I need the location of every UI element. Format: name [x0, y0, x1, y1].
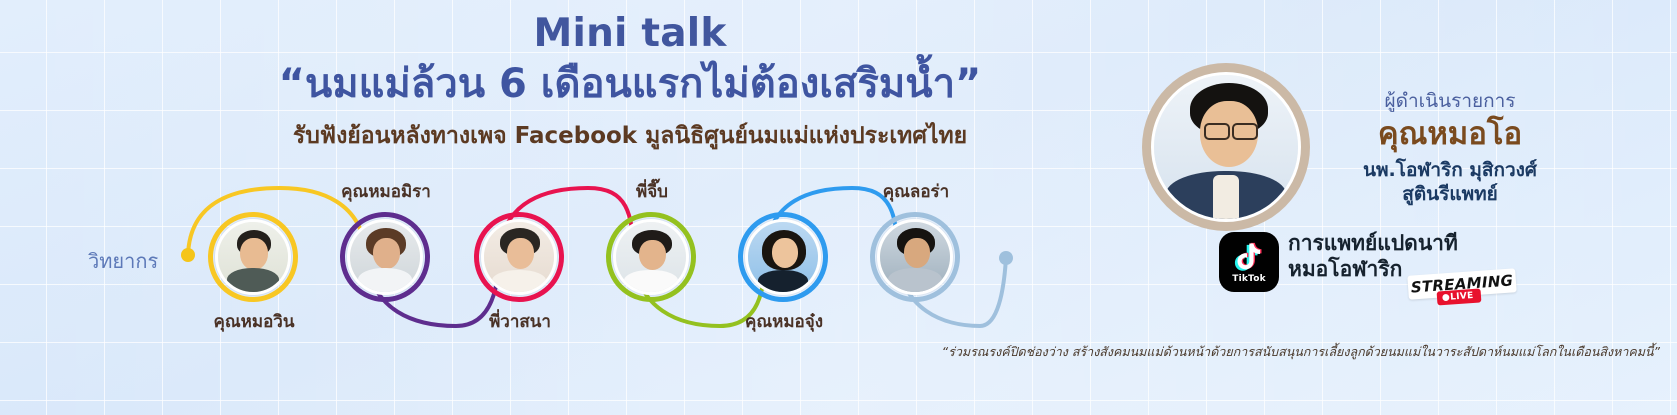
host-avatar[interactable]: [1142, 63, 1310, 231]
tiktok-note-glyph: [1232, 241, 1266, 273]
speaker-name-6: คุณลอร่า: [848, 178, 984, 205]
host-full-name: นพ.โอฬาริก มุสิกวงศ์: [1300, 158, 1600, 183]
host-nickname: คุณหมอโอ: [1300, 115, 1600, 154]
footer-tagline: “ร่วมรณรงค์ปิดช่องว่าง สร้างสังคมนมแม่ด้…: [840, 342, 1660, 362]
speaker-name-5: คุณหมอจุ๋ง: [716, 308, 852, 335]
talk-topic-quote: “นมแม่ล้วน 6 เดือนแรกไม่ต้องเสริมน้ำ”: [180, 59, 1080, 109]
headline-block: Mini talk “นมแม่ล้วน 6 เดือนแรกไม่ต้องเส…: [180, 14, 1080, 151]
speaker-avatar-6[interactable]: คุณลอร่า: [870, 212, 960, 302]
host-info: ผู้ดำเนินรายการ คุณหมอโอ นพ.โอฬาริก มุสิ…: [1300, 90, 1600, 207]
speaker-photo-1: [218, 222, 288, 292]
speaker-avatar-1[interactable]: คุณหมอวิน: [208, 212, 298, 302]
channel-name-line1: การแพทย์แปดนาที: [1288, 231, 1458, 257]
speaker-photo-2: [350, 222, 420, 292]
host-role-label: ผู้ดำเนินรายการ: [1300, 90, 1600, 113]
timeline-dot-start: [181, 248, 195, 262]
mini-talk-title: Mini talk: [180, 14, 1080, 55]
live-badge: ●LIVE: [1437, 288, 1481, 305]
speakers-section-label: วิทยากร: [88, 245, 158, 277]
speaker-photo-4: [616, 222, 686, 292]
host-specialty: สูตินรีแพทย์: [1300, 182, 1600, 207]
speaker-name-3: พี่วาสนา: [452, 308, 588, 335]
timeline-dot-end: [999, 251, 1013, 265]
speaker-name-4: พี่จี๊บ: [584, 178, 720, 205]
speaker-photo-3: [484, 222, 554, 292]
speaker-name-2: คุณหมอมิรา: [318, 178, 454, 205]
tiktok-wordmark: TikTok: [1232, 274, 1266, 284]
tiktok-icon[interactable]: TikTok: [1219, 232, 1279, 292]
host-glasses-right: [1232, 123, 1258, 140]
host-shirt: [1213, 175, 1239, 219]
speaker-avatar-4[interactable]: พี่จี๊บ: [606, 212, 696, 302]
host-photo: [1151, 72, 1301, 222]
host-glasses-left: [1204, 123, 1230, 140]
speaker-name-1: คุณหมอวิน: [186, 308, 322, 335]
speaker-avatar-5[interactable]: คุณหมอจุ๋ง: [738, 212, 828, 302]
talk-subtitle: รับฟังย้อนหลังทางเพจ Facebook มูลนิธิศูน…: [180, 123, 1080, 151]
speaker-photo-5: [748, 222, 818, 292]
speaker-photo-6: [880, 222, 950, 292]
speaker-avatar-2[interactable]: คุณหมอมิรา: [340, 212, 430, 302]
webinar-banner: Mini talk “นมแม่ล้วน 6 เดือนแรกไม่ต้องเส…: [0, 0, 1677, 415]
speakers-timeline: คุณหมอวิน คุณหมอมิรา: [180, 180, 1010, 340]
speaker-avatar-3[interactable]: พี่วาสนา: [474, 212, 564, 302]
